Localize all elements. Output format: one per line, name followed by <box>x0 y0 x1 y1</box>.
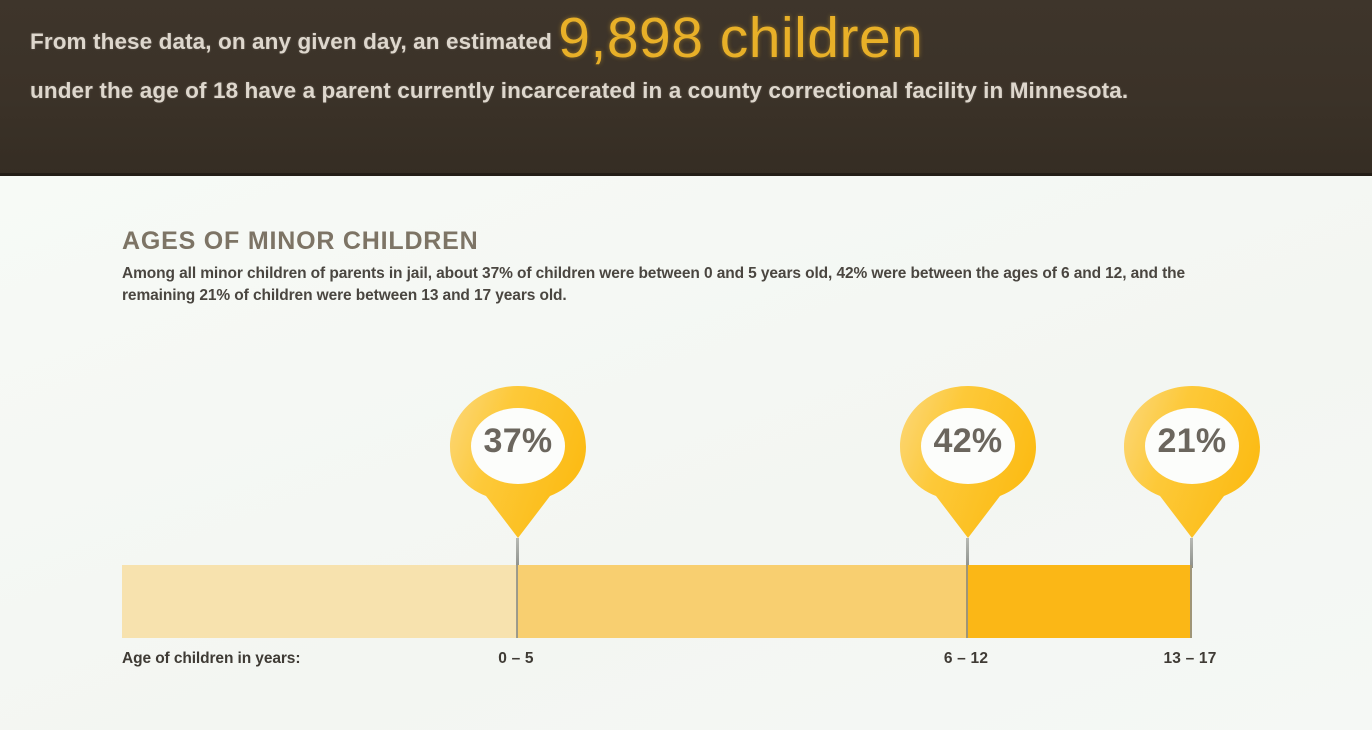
stacked-bar <box>122 565 1192 638</box>
bar-segment-0-5 <box>122 565 517 638</box>
bar-divider-6-12 <box>966 565 968 638</box>
header-trailing-text: under the age of 18 have a parent curren… <box>30 78 1128 103</box>
bar-divider-0-5 <box>516 565 518 638</box>
marker-stem-6-12 <box>966 538 969 568</box>
tick-label-0-5: 0 – 5 <box>428 650 604 668</box>
marker-pin-13-17[interactable]: 21% <box>1118 384 1266 540</box>
header-lead-text: From these data, on any given day, an es… <box>30 29 558 54</box>
bar-segment-13-17 <box>966 565 1192 638</box>
axis-caption: Age of children in years: <box>122 650 300 668</box>
tick-label-6-12: 6 – 12 <box>878 650 1054 668</box>
ages-stacked-bar-chart: 37% 42% <box>0 176 1372 730</box>
bar-divider-13-17 <box>1190 565 1192 638</box>
tick-label-13-17: 13 – 17 <box>1102 650 1278 668</box>
bar-segment-6-12 <box>517 565 966 638</box>
content-panel: AGES OF MINOR CHILDREN Among all minor c… <box>0 176 1372 730</box>
marker-pin-6-12[interactable]: 42% <box>894 384 1042 540</box>
header-banner: From these data, on any given day, an es… <box>0 0 1372 176</box>
header-statement: From these data, on any given day, an es… <box>30 14 1354 115</box>
marker-pin-0-5[interactable]: 37% <box>444 384 592 540</box>
marker-stem-0-5 <box>516 538 519 568</box>
marker-stem-13-17 <box>1190 538 1193 568</box>
header-big-number: 9,898 children <box>558 6 923 70</box>
